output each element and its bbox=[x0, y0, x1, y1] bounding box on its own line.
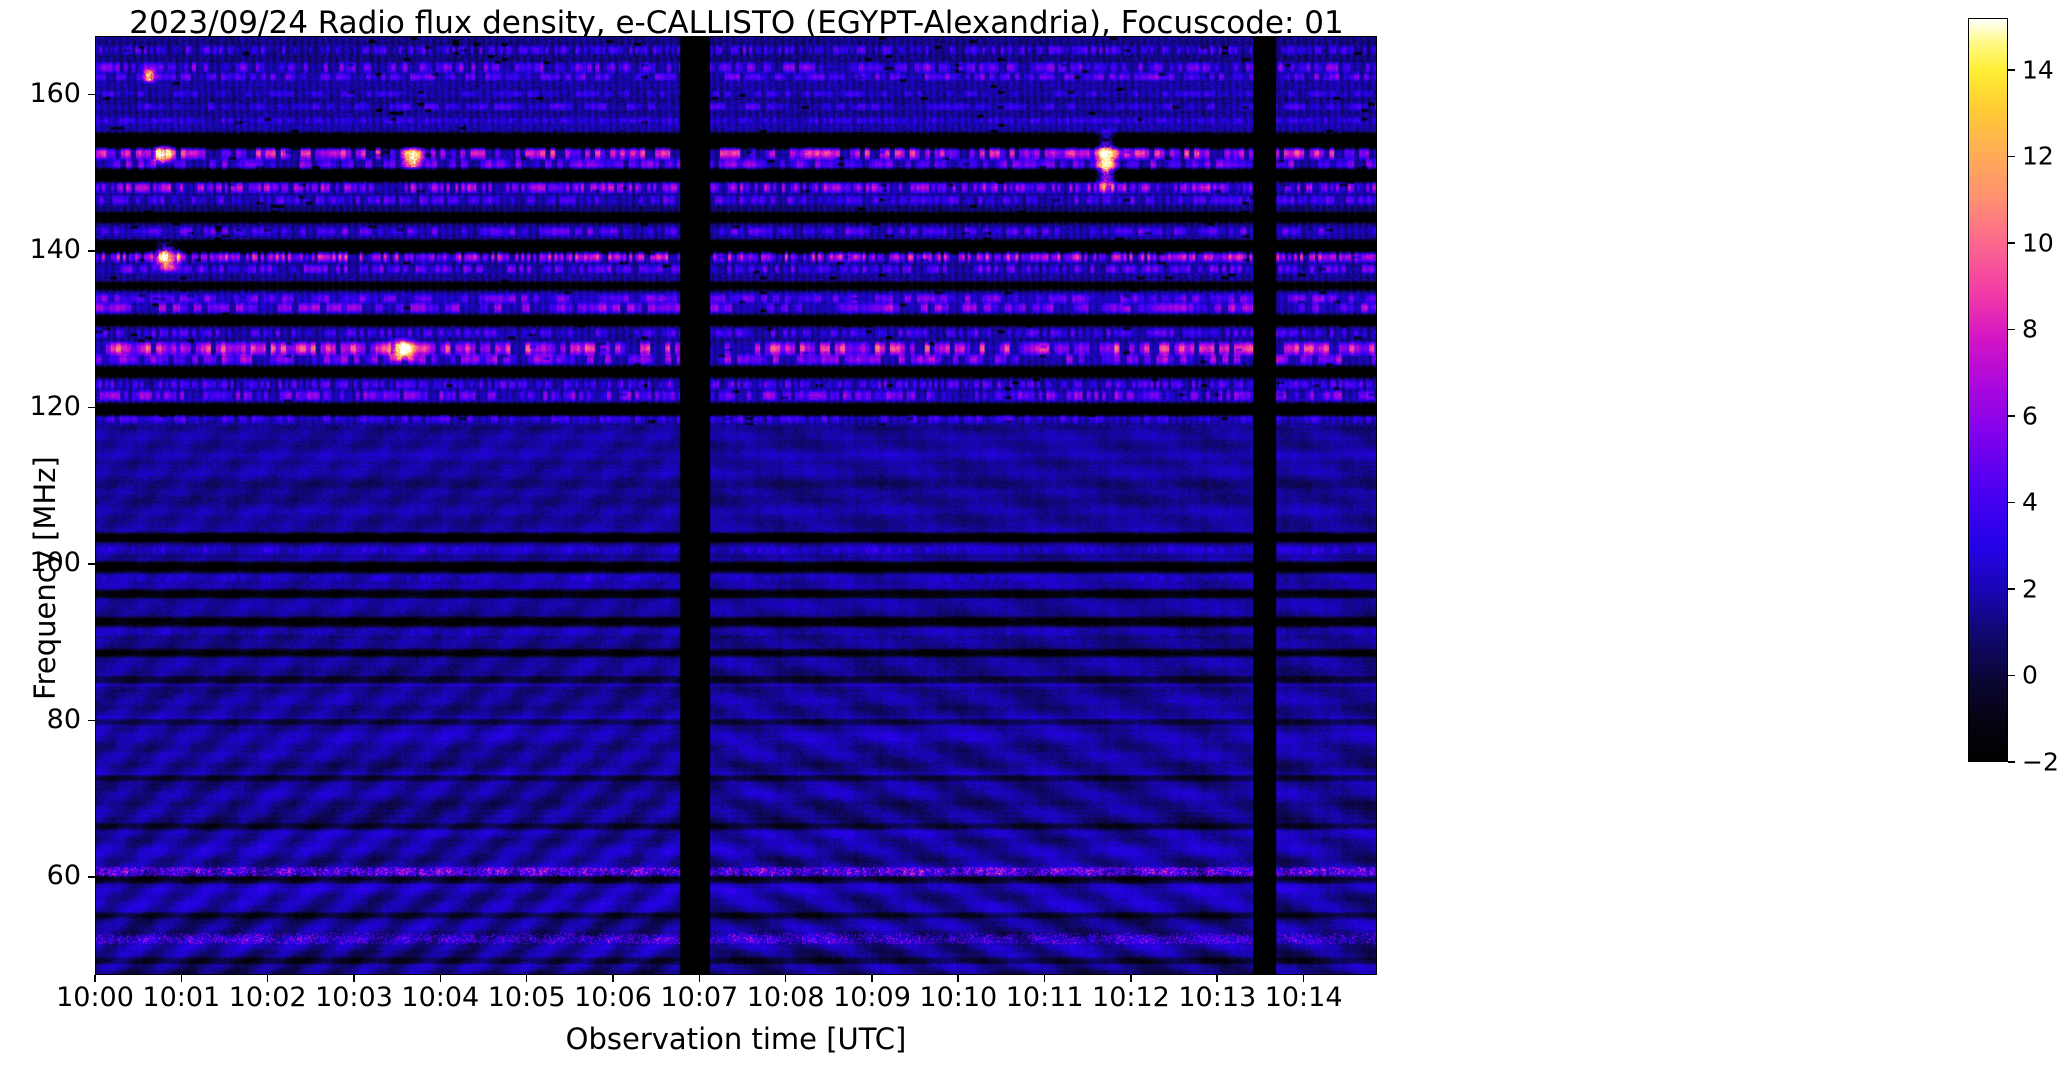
colorbar-tick-mark bbox=[2008, 761, 2015, 763]
colorbar-tick-mark bbox=[2008, 69, 2015, 71]
x-tick-label: 10:14 bbox=[1265, 982, 1343, 1013]
x-tick-mark bbox=[1303, 975, 1305, 982]
x-tick-mark bbox=[181, 975, 183, 982]
x-tick-mark bbox=[1044, 975, 1046, 982]
colorbar-tick-mark bbox=[2008, 329, 2015, 331]
figure: 2023/09/24 Radio flux density, e-CALLIST… bbox=[0, 0, 2066, 1067]
x-tick-mark bbox=[353, 975, 355, 982]
colorbar-tick-mark bbox=[2008, 502, 2015, 504]
y-tick-label: 60 bbox=[0, 860, 81, 891]
spectrogram-axes[interactable] bbox=[95, 36, 1377, 975]
x-tick-label: 10:13 bbox=[1178, 982, 1256, 1013]
colorbar-tick-label: 8 bbox=[2022, 315, 2038, 344]
x-tick-mark bbox=[612, 975, 614, 982]
y-tick-label: 100 bbox=[0, 547, 81, 578]
x-tick-label: 10:04 bbox=[401, 982, 479, 1013]
colorbar-tick-label: 14 bbox=[2022, 55, 2054, 84]
x-tick-label: 10:01 bbox=[142, 982, 220, 1013]
x-tick-label: 10:05 bbox=[488, 982, 566, 1013]
colorbar-tick-mark bbox=[2008, 675, 2015, 677]
colorbar-tick-mark bbox=[2008, 588, 2015, 590]
x-tick-mark bbox=[1130, 975, 1132, 982]
y-tick-mark bbox=[88, 720, 95, 722]
colorbar-tick-mark bbox=[2008, 156, 2015, 158]
x-tick-mark bbox=[699, 975, 701, 982]
x-tick-mark bbox=[785, 975, 787, 982]
x-tick-label: 10:10 bbox=[919, 982, 997, 1013]
colorbar-tick-label: 2 bbox=[2022, 574, 2038, 603]
x-tick-mark bbox=[267, 975, 269, 982]
y-tick-mark bbox=[88, 94, 95, 96]
y-tick-label: 80 bbox=[0, 704, 81, 735]
colorbar-tick-mark bbox=[2008, 415, 2015, 417]
x-tick-label: 10:06 bbox=[574, 982, 652, 1013]
x-tick-label: 10:03 bbox=[315, 982, 393, 1013]
y-tick-mark bbox=[88, 563, 95, 565]
x-tick-label: 10:11 bbox=[1006, 982, 1084, 1013]
x-tick-label: 10:07 bbox=[660, 982, 738, 1013]
x-tick-label: 10:02 bbox=[229, 982, 307, 1013]
x-tick-mark bbox=[526, 975, 528, 982]
y-tick-mark bbox=[88, 250, 95, 252]
colorbar-tick-mark bbox=[2008, 242, 2015, 244]
y-tick-label: 120 bbox=[0, 391, 81, 422]
colorbar bbox=[1968, 18, 2008, 762]
spectrogram-image bbox=[96, 37, 1376, 974]
x-tick-mark bbox=[94, 975, 96, 982]
colorbar-tick-label: 0 bbox=[2022, 661, 2038, 690]
colorbar-tick-label: 6 bbox=[2022, 401, 2038, 430]
x-tick-mark bbox=[1216, 975, 1218, 982]
x-axis-label: Observation time [UTC] bbox=[95, 1022, 1377, 1056]
x-tick-label: 10:08 bbox=[747, 982, 825, 1013]
x-tick-label: 10:09 bbox=[833, 982, 911, 1013]
x-tick-mark bbox=[957, 975, 959, 982]
y-tick-label: 140 bbox=[0, 234, 81, 265]
colorbar-tick-label: 12 bbox=[2022, 142, 2054, 171]
colorbar-tick-label: −2 bbox=[2022, 748, 2059, 777]
y-tick-mark bbox=[88, 876, 95, 878]
y-tick-mark bbox=[88, 407, 95, 409]
y-tick-label: 160 bbox=[0, 78, 81, 109]
x-tick-label: 10:12 bbox=[1092, 982, 1170, 1013]
x-tick-mark bbox=[871, 975, 873, 982]
x-tick-mark bbox=[440, 975, 442, 982]
colorbar-tick-label: 10 bbox=[2022, 228, 2054, 257]
x-tick-label: 10:00 bbox=[56, 982, 134, 1013]
colorbar-tick-label: 4 bbox=[2022, 488, 2038, 517]
